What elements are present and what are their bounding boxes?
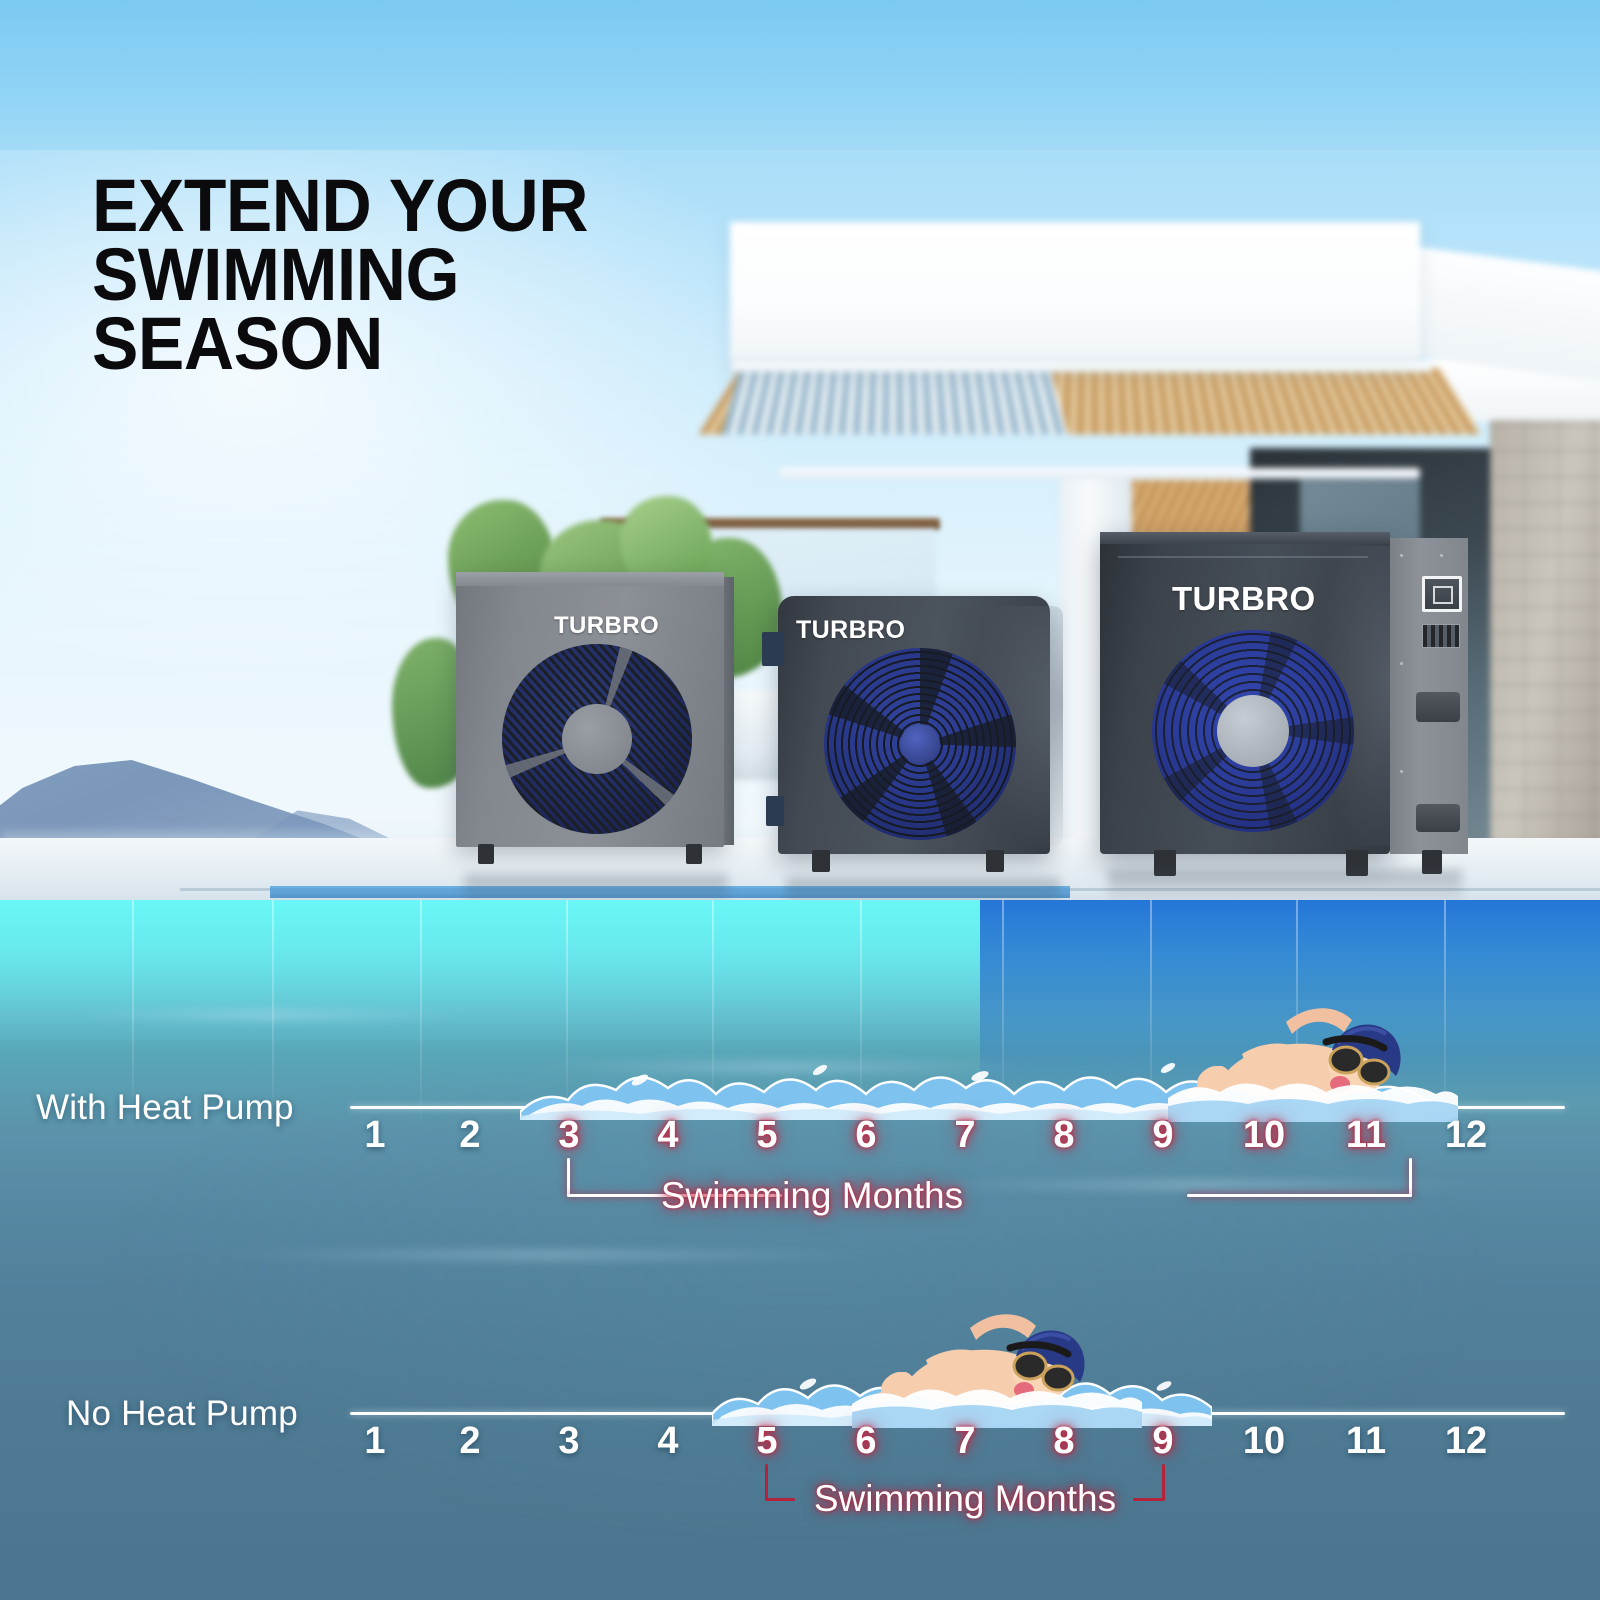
swimming-months-label: Swimming Months — [814, 1478, 1116, 1520]
pergola-front-rail — [732, 362, 1432, 372]
panel-screw — [1400, 554, 1403, 557]
control-display[interactable] — [1422, 576, 1462, 612]
water-port-bottom — [766, 796, 784, 826]
tick-7: 7 — [945, 1420, 985, 1463]
tick-2: 2 — [450, 1420, 490, 1463]
tick-8: 8 — [1044, 1114, 1084, 1157]
bracket-right-arm — [1409, 1158, 1412, 1196]
tick-5: 5 — [747, 1114, 787, 1157]
unit-foot — [986, 850, 1004, 872]
bracket-bar-right — [1187, 1194, 1412, 1197]
unit-top-cover — [456, 572, 724, 586]
brand-logo: TURBRO — [554, 612, 659, 640]
tick-4: 4 — [648, 1420, 688, 1463]
timeline-no-heat-pump: No Heat Pump — [0, 1370, 1600, 1570]
timeline-label-with-heat-pump: With Heat Pump — [36, 1088, 294, 1128]
water-outlet-pipe — [1416, 804, 1460, 832]
unit-foot — [812, 850, 830, 872]
swimmer-figure — [852, 1298, 1142, 1428]
tick-7: 7 — [945, 1114, 985, 1157]
unit-top-cover — [1100, 532, 1390, 544]
tick-1: 1 — [355, 1420, 395, 1463]
brand-logo: TURBRO — [796, 616, 905, 645]
bracket-left-arm — [567, 1158, 570, 1196]
unit-reflection — [1108, 870, 1462, 904]
fan-hub — [562, 704, 632, 774]
tick-11: 11 — [1340, 1420, 1392, 1463]
promo-banner: EXTEND YOUR SWIMMING SEASON TURBRO TURBR… — [0, 0, 1600, 1600]
water-port-top — [762, 632, 784, 666]
panel-screw — [1400, 770, 1403, 773]
unit-side-face — [724, 577, 734, 845]
panel-screw — [1400, 662, 1403, 665]
tick-9: 9 — [1143, 1420, 1183, 1463]
tick-3: 3 — [549, 1420, 589, 1463]
pergola-back-rail — [780, 468, 1420, 479]
bracket-left-arm — [765, 1464, 768, 1500]
tick-5: 5 — [747, 1420, 787, 1463]
tick-12: 12 — [1440, 1114, 1492, 1157]
tick-6: 6 — [846, 1114, 886, 1157]
swimmer-figure — [1168, 992, 1458, 1122]
tick-2: 2 — [450, 1114, 490, 1157]
fan-hub — [900, 724, 940, 764]
tick-11: 11 — [1340, 1114, 1392, 1157]
heat-pump-large[interactable]: TURBRO — [1100, 532, 1470, 868]
timeline-label-no-heat-pump: No Heat Pump — [66, 1394, 298, 1434]
tick-9: 9 — [1143, 1114, 1183, 1157]
tick-12: 12 — [1440, 1420, 1492, 1463]
heat-pump-medium[interactable]: TURBRO — [778, 596, 1068, 876]
brand-logo: TURBRO — [1172, 580, 1316, 618]
water-ripple — [60, 1010, 480, 1020]
bracket-bar-right — [1133, 1498, 1165, 1501]
tick-6: 6 — [846, 1420, 886, 1463]
tick-10: 10 — [1238, 1114, 1290, 1157]
water-inlet-pipe — [1416, 692, 1460, 722]
panel-screw — [1440, 554, 1443, 557]
timeline-with-heat-pump: With Heat Pump — [0, 1060, 1600, 1240]
side-vent — [1422, 624, 1460, 648]
bracket-right-arm — [1162, 1464, 1165, 1500]
unit-foot — [686, 844, 702, 864]
unit-foot — [478, 844, 494, 864]
display-screen-icon — [1433, 586, 1453, 604]
roof-slab — [730, 222, 1420, 367]
bracket-bar-left — [765, 1498, 795, 1501]
tick-4: 4 — [648, 1114, 688, 1157]
tick-8: 8 — [1044, 1420, 1084, 1463]
sky-top-strip — [0, 0, 1600, 150]
pergola-slats-shaded — [722, 368, 1069, 434]
swimming-months-label: Swimming Months — [661, 1175, 963, 1217]
fan-hub — [1217, 695, 1289, 767]
tick-1: 1 — [355, 1114, 395, 1157]
tick-10: 10 — [1238, 1420, 1290, 1463]
heat-pump-small[interactable]: TURBRO — [456, 572, 736, 872]
page-title: EXTEND YOUR SWIMMING SEASON — [92, 172, 750, 378]
tick-3: 3 — [549, 1114, 589, 1157]
